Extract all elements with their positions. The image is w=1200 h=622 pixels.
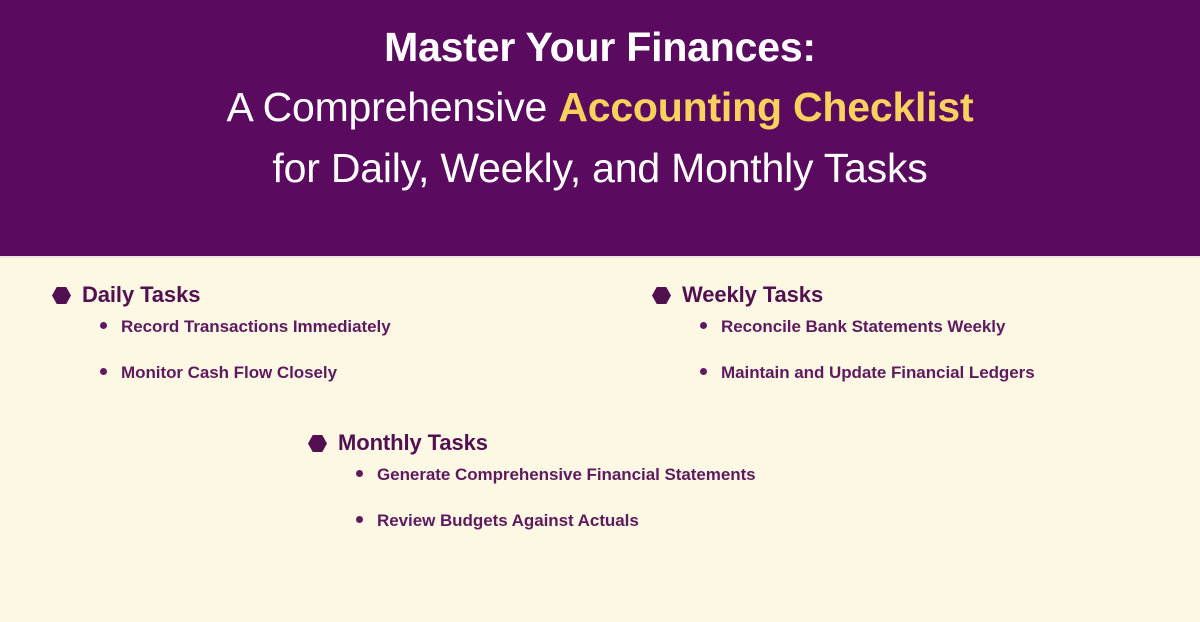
section-title-monthly: Monthly Tasks [338, 432, 488, 454]
hexagon-icon [652, 286, 671, 305]
task-list-weekly: Reconcile Bank Statements Weekly Maintai… [652, 317, 1200, 382]
hexagon-icon [52, 286, 71, 305]
list-item: Maintain and Update Financial Ledgers [700, 363, 1200, 383]
task-label: Generate Comprehensive Financial Stateme… [377, 465, 756, 485]
title-line-tertiary: for Daily, Weekly, and Monthly Tasks [272, 147, 927, 190]
section-heading-weekly: Weekly Tasks [652, 284, 1200, 306]
list-item: Reconcile Bank Statements Weekly [700, 317, 1200, 337]
task-label: Reconcile Bank Statements Weekly [721, 317, 1005, 337]
task-label: Maintain and Update Financial Ledgers [721, 363, 1035, 383]
section-monthly: Monthly Tasks Generate Comprehensive Fin… [0, 432, 1200, 530]
bullet-icon [700, 368, 707, 375]
title-line-primary: Master Your Finances: [384, 26, 816, 69]
bullet-icon [100, 368, 107, 375]
section-heading-daily: Daily Tasks [52, 284, 600, 306]
section-title-daily: Daily Tasks [82, 284, 200, 306]
list-item: Generate Comprehensive Financial Stateme… [356, 465, 1200, 485]
top-columns: Daily Tasks Record Transactions Immediat… [0, 284, 1200, 382]
list-item: Monitor Cash Flow Closely [100, 363, 600, 383]
tasks-body: Daily Tasks Record Transactions Immediat… [0, 258, 1200, 622]
section-daily: Daily Tasks Record Transactions Immediat… [0, 284, 600, 382]
list-item: Record Transactions Immediately [100, 317, 600, 337]
header-banner: Master Your Finances: A Comprehensive Ac… [0, 0, 1200, 258]
section-title-weekly: Weekly Tasks [682, 284, 823, 306]
title-secondary-prefix: A Comprehensive [227, 84, 559, 130]
section-weekly: Weekly Tasks Reconcile Bank Statements W… [600, 284, 1200, 382]
task-list-monthly: Generate Comprehensive Financial Stateme… [308, 465, 1200, 530]
bullet-icon [356, 516, 363, 523]
task-label: Monitor Cash Flow Closely [121, 363, 337, 383]
bullet-icon [100, 322, 107, 329]
bullet-icon [700, 322, 707, 329]
bullet-icon [356, 470, 363, 477]
infographic-root: Master Your Finances: A Comprehensive Ac… [0, 0, 1200, 622]
hexagon-icon [308, 434, 327, 453]
section-heading-monthly: Monthly Tasks [308, 432, 1200, 454]
task-label: Record Transactions Immediately [121, 317, 391, 337]
list-item: Review Budgets Against Actuals [356, 511, 1200, 531]
title-line-secondary: A Comprehensive Accounting Checklist [227, 86, 974, 129]
title-secondary-accent: Accounting Checklist [558, 84, 973, 130]
task-list-daily: Record Transactions Immediately Monitor … [52, 317, 600, 382]
task-label: Review Budgets Against Actuals [377, 511, 639, 531]
